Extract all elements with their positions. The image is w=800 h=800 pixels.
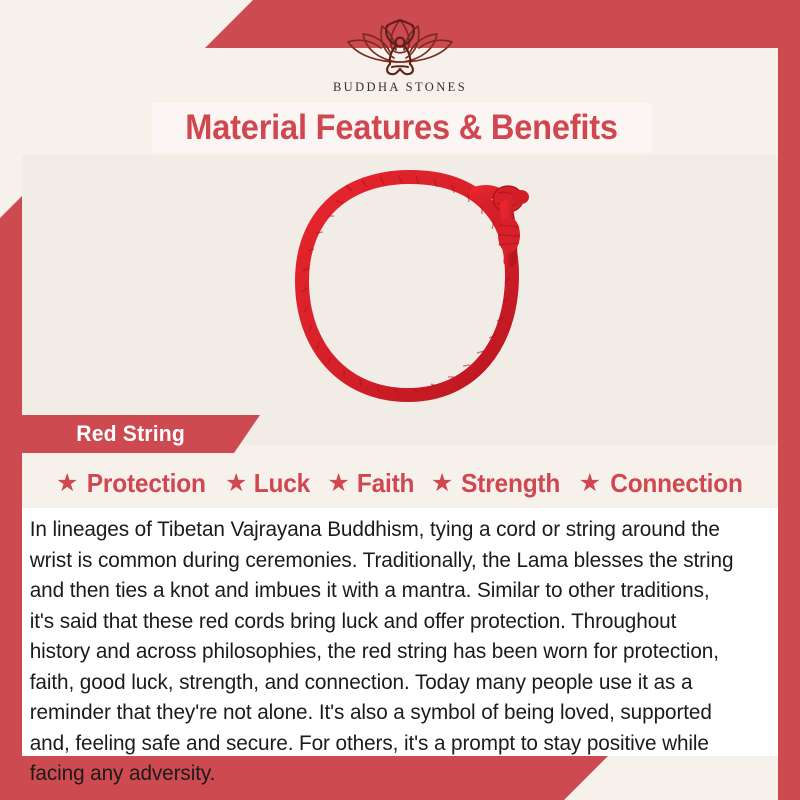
product-photo [22, 155, 778, 445]
left-red-stripe [0, 196, 22, 756]
benefit-item: ★ Faith [318, 468, 422, 499]
infographic-page: BUDDHA STONES Material Features & Benefi… [0, 0, 800, 800]
star-icon: ★ [431, 471, 453, 496]
benefit-label: Protection [87, 468, 206, 499]
red-string-bracelet-image [240, 163, 580, 433]
lotus-meditation-icon [334, 12, 466, 78]
brand-name: BUDDHA STONES [333, 80, 467, 95]
product-label-banner: Red String [22, 415, 260, 453]
benefits-row: ★ Protection ★ Luck ★ Faith ★ Strength ★… [22, 462, 778, 504]
star-icon: ★ [225, 471, 247, 496]
benefit-label: Luck [254, 468, 310, 499]
benefit-item: ★ Connection [570, 468, 753, 499]
benefit-item: ★ Strength [422, 468, 570, 499]
benefit-label: Connection [610, 468, 743, 499]
star-icon: ★ [327, 471, 349, 496]
title-banner: Material Features & Benefits [152, 103, 652, 153]
product-label-text: Red String [76, 421, 185, 447]
benefit-label: Faith [357, 468, 414, 499]
star-icon: ★ [579, 471, 601, 496]
brand-logo: BUDDHA STONES [0, 12, 800, 95]
description-text: In lineages of Tibetan Vajrayana Buddhis… [22, 508, 752, 789]
page-title: Material Features & Benefits [186, 108, 619, 148]
description-panel: In lineages of Tibetan Vajrayana Buddhis… [22, 508, 778, 756]
benefit-item: ★ Protection [47, 468, 216, 499]
right-red-stripe [778, 44, 800, 800]
benefit-item: ★ Luck [216, 468, 318, 499]
star-icon: ★ [56, 471, 78, 496]
benefit-label: Strength [461, 468, 560, 499]
